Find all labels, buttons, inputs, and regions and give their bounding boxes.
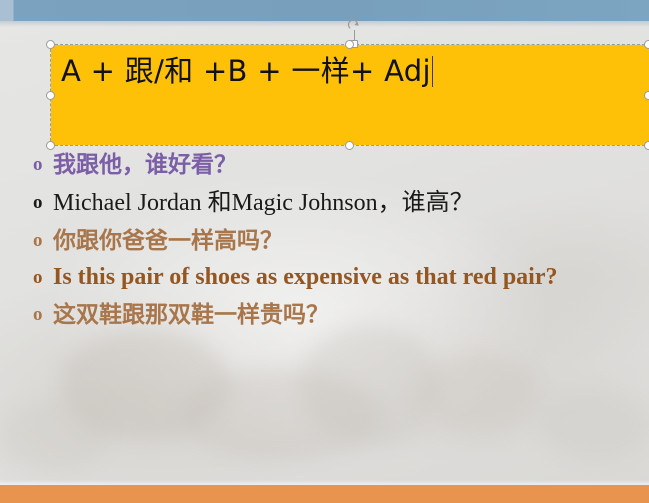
watermark-blotch	[180, 370, 380, 460]
watermark-blotch	[60, 330, 230, 440]
slide-top-band	[0, 0, 649, 21]
list-item[interactable]: o 我跟他，谁好看？	[33, 148, 633, 182]
list-item-label: Michael Jordan 和Magic Johnson，谁高？	[53, 185, 633, 221]
slide-bottom-band	[0, 485, 649, 503]
resize-handle-top-right[interactable]	[644, 40, 649, 49]
list-item[interactable]: o Michael Jordan 和Magic Johnson，谁高？	[33, 185, 633, 221]
bullet-marker-icon: o	[33, 298, 53, 332]
text-caret	[432, 56, 433, 87]
watermark-blotch	[300, 325, 440, 445]
list-item[interactable]: o 你跟你爸爸一样高吗？	[33, 224, 633, 258]
list-item[interactable]: o 这双鞋跟那双鞋一样贵吗？	[33, 298, 633, 332]
bullet-marker-icon: o	[33, 224, 53, 258]
watermark-blotch	[540, 390, 649, 460]
list-item-label: 你跟你爸爸一样高吗？	[53, 224, 633, 258]
resize-handle-middle-right[interactable]	[644, 91, 649, 100]
title-textbox-text[interactable]: A + 跟/和 +B + 一样+ Adj	[61, 51, 645, 91]
slide-canvas: A + 跟/和 +B + 一样+ Adj o 我跟他，谁好看？ o Michae…	[0, 0, 649, 503]
watermark-blotch	[0, 400, 110, 470]
list-item-label: 我跟他，谁好看？	[53, 148, 633, 182]
list-item-label: 这双鞋跟那双鞋一样贵吗？	[53, 298, 633, 332]
bullet-marker-icon: o	[33, 148, 53, 182]
bullet-marker-icon: o	[33, 185, 53, 221]
watermark-blotch	[420, 355, 540, 435]
resize-handle-middle-left[interactable]	[46, 91, 55, 100]
bullet-list[interactable]: o 我跟他，谁好看？ o Michael Jordan 和Magic Johns…	[33, 148, 633, 335]
resize-handle-bottom-right[interactable]	[644, 141, 649, 150]
title-textbox[interactable]: A + 跟/和 +B + 一样+ Adj	[51, 45, 649, 145]
list-item-label: Is this pair of shoes as expensive as th…	[53, 261, 598, 294]
resize-handle-top-center[interactable]	[345, 40, 354, 49]
title-text-content: A + 跟/和 +B + 一样+ Adj	[61, 54, 431, 88]
rotate-icon	[345, 17, 365, 33]
resize-handle-top-left[interactable]	[46, 40, 55, 49]
slide-top-band-shadow	[0, 21, 649, 27]
bullet-marker-icon: o	[33, 261, 53, 295]
list-item[interactable]: o Is this pair of shoes as expensive as …	[33, 261, 633, 295]
